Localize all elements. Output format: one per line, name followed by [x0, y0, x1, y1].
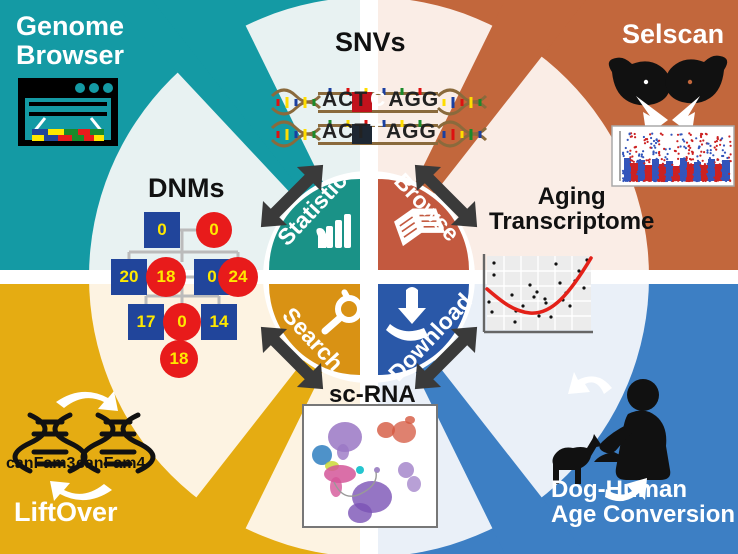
pedigree-node: 14 [201, 304, 237, 340]
dnms-title: DNMs [148, 174, 225, 203]
snv-sequence-row-2: ACTTAGG [322, 120, 437, 144]
liftover-title: LiftOver [14, 498, 118, 527]
pedigree-node: 18 [160, 340, 198, 378]
genome-browser-icon [18, 78, 118, 146]
pedigree-node: 20 [111, 259, 147, 295]
snvs-title: SNVs [335, 28, 406, 57]
pedigree-node: 18 [146, 257, 186, 297]
snv-variant-base: C [368, 88, 388, 111]
liftover-genome-canfam4: canFam4 [76, 456, 145, 473]
manhattan-plot [612, 126, 734, 186]
snv-suffix: AGG [388, 88, 439, 111]
snv-prefix: ACT [322, 120, 368, 143]
snv-sequence-row-1: ACTCAGG [322, 88, 439, 112]
liftover-genome-canfam3: canFam3 [6, 456, 75, 473]
snv-prefix: ACT [322, 88, 368, 111]
figure-canvas: 0 0 20 18 0 24 17 0 14 18 ACTCAGG ACTTAG… [0, 0, 738, 554]
pedigree-node: 24 [218, 257, 258, 297]
aging-transcriptome-plot [484, 254, 593, 332]
pedigree-node: 0 [196, 212, 232, 248]
snv-variant-base: T [368, 120, 386, 143]
aging-transcriptome-title: AgingTranscriptome [489, 184, 654, 235]
pedigree-node: 17 [128, 304, 164, 340]
genome-browser-title: GenomeBrowser [16, 12, 124, 69]
selscan-title: Selscan [622, 20, 724, 49]
dog-human-age-conversion-title: Dog-HumanAge Conversion [551, 477, 735, 528]
snv-suffix: AGG [386, 120, 437, 143]
pedigree-node: 0 [144, 212, 180, 248]
scrna-umap-plot [303, 405, 437, 527]
pedigree-node: 0 [163, 303, 201, 341]
